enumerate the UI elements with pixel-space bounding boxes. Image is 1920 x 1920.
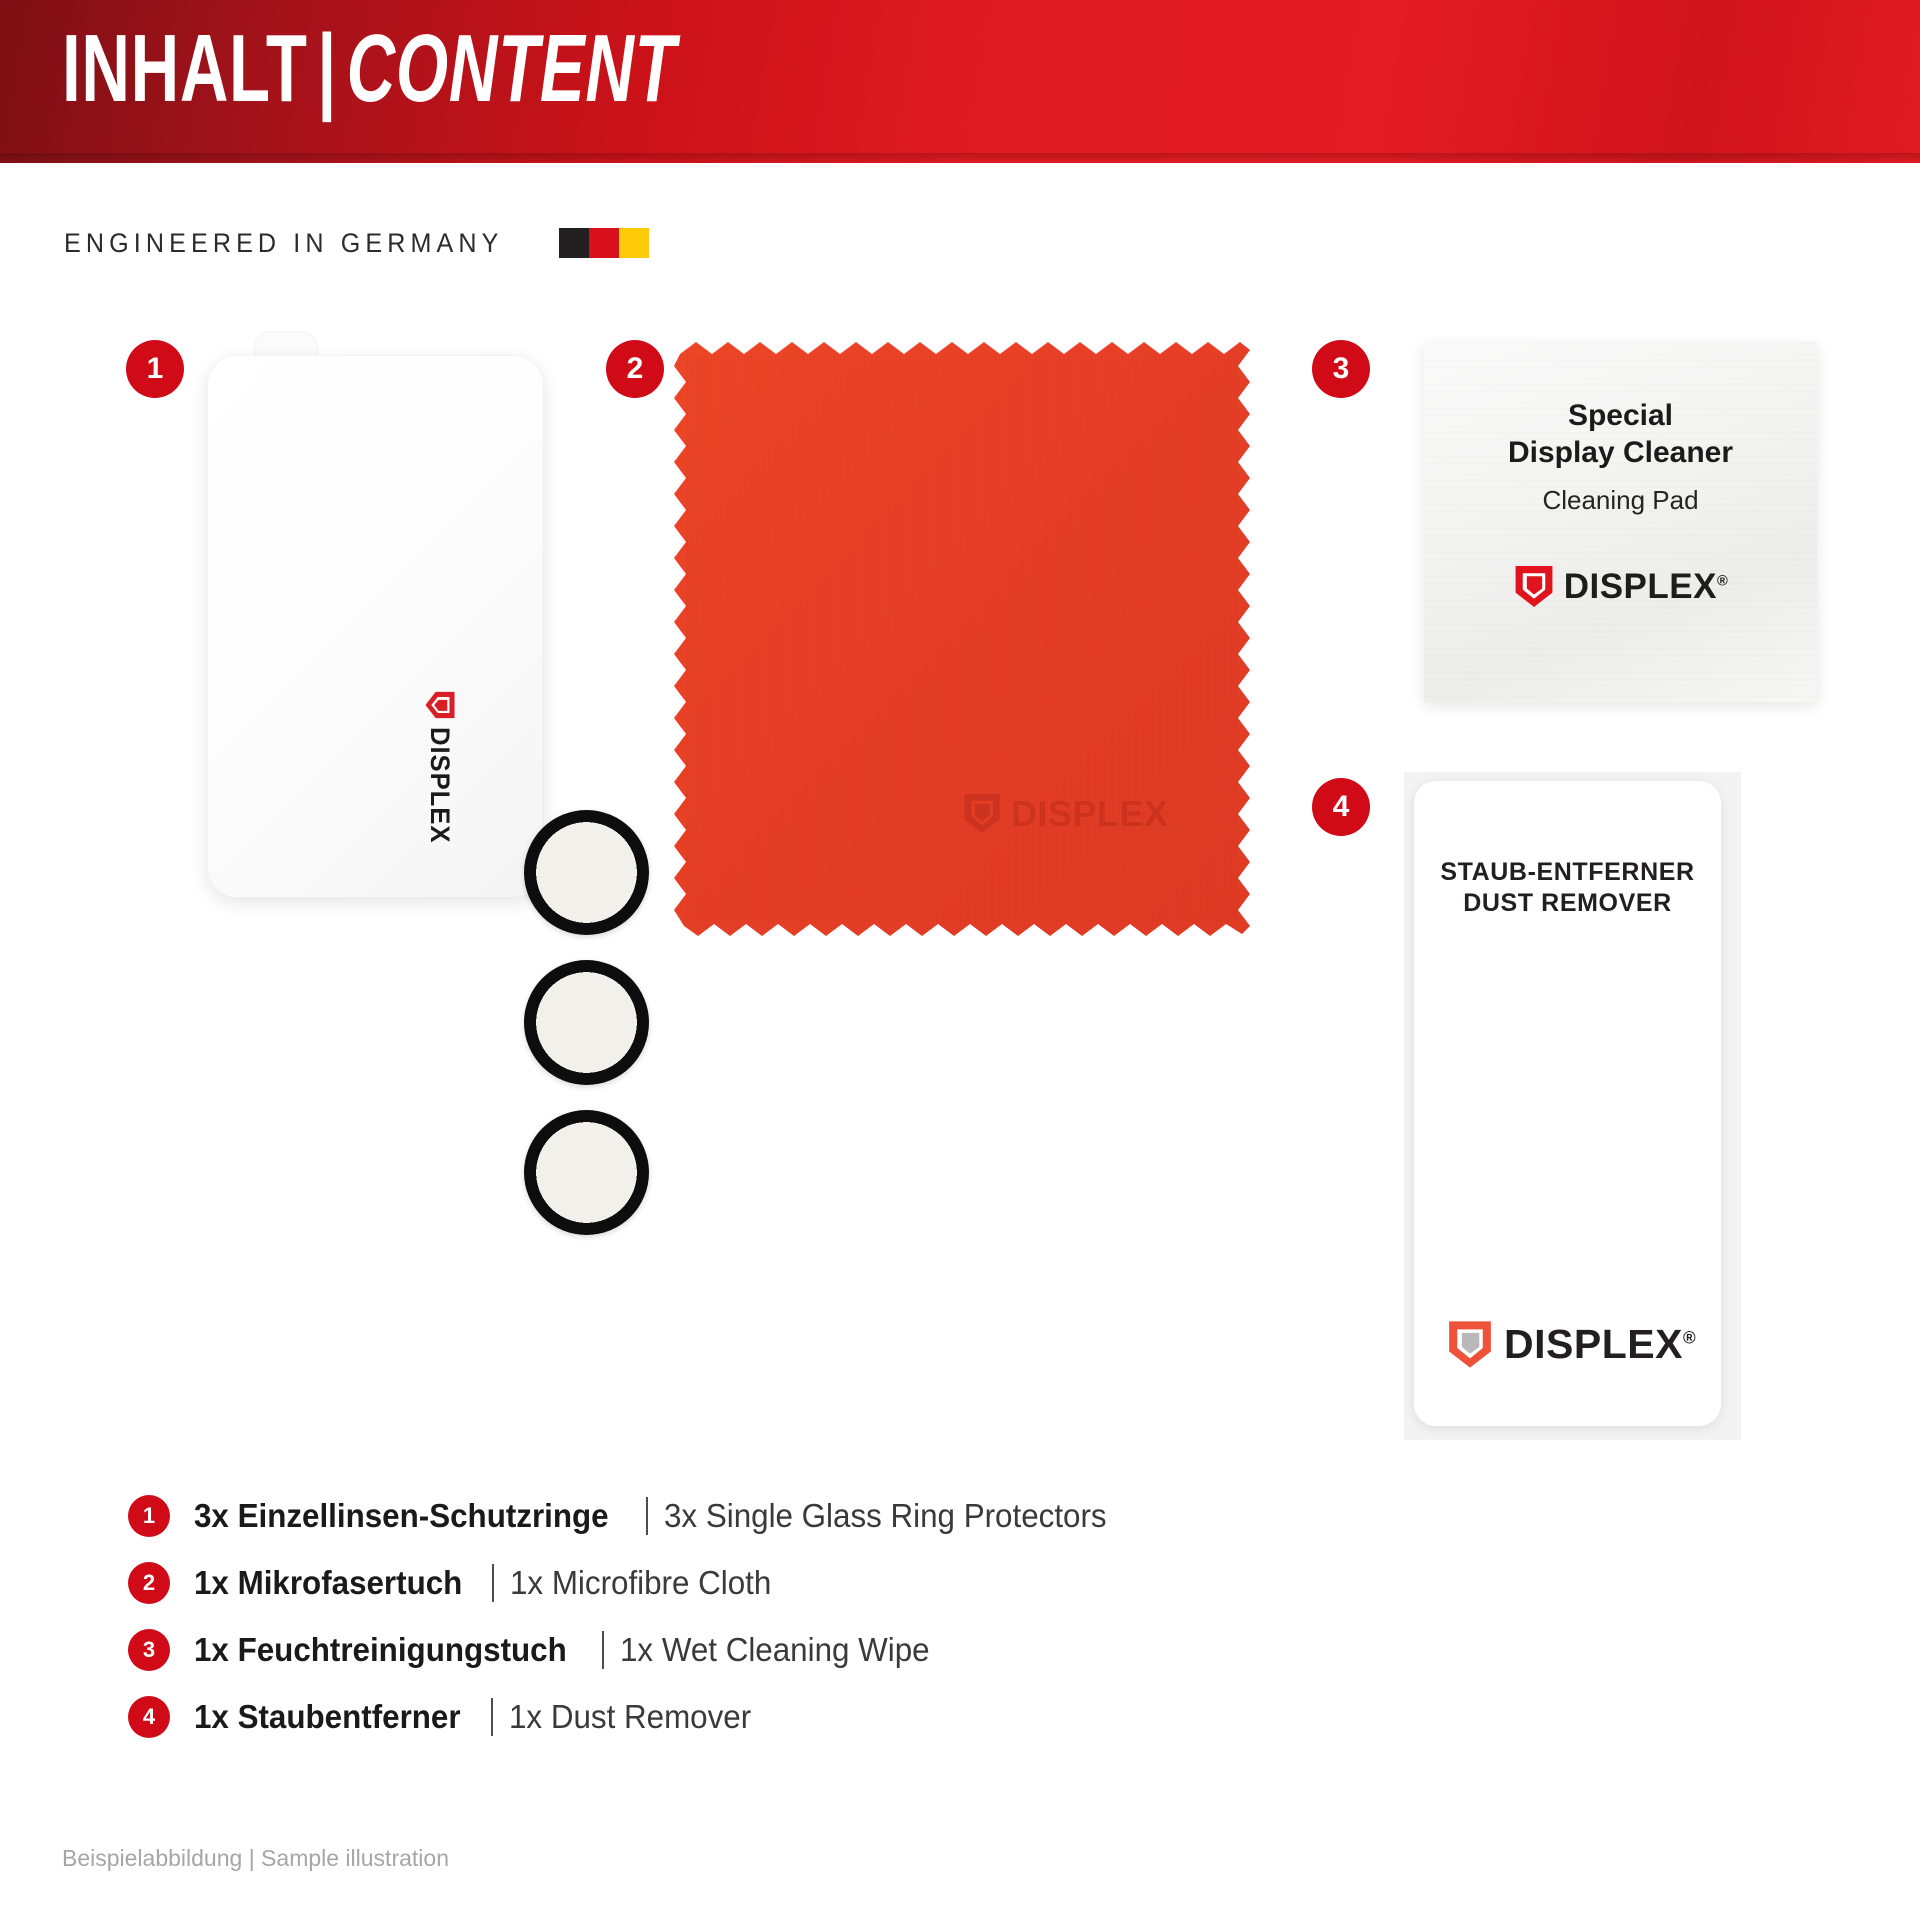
legend-separator xyxy=(602,1631,604,1669)
callout-badge-2: 2 xyxy=(606,340,664,398)
legend-label-de: 1x Mikrofasertuch xyxy=(194,1564,462,1602)
list-item: 4 1x Staubentferner 1x Dust Remover xyxy=(128,1683,1130,1750)
lens-ring-icon xyxy=(524,960,649,1085)
callout-badge-4: 4 xyxy=(1312,778,1370,836)
legend-label-de: 1x Feuchtreinigungstuch xyxy=(194,1631,567,1669)
displex-wordmark-text: DISPLEX xyxy=(1564,567,1717,606)
microfibre-cloth: DISPLEX xyxy=(672,340,1252,940)
dust-remover-package: STAUB-ENTFERNER DUST REMOVER DISPLEX® xyxy=(1404,772,1741,1440)
list-item: 1 3x Einzellinsen-Schutzringe 3x Single … xyxy=(128,1482,1130,1549)
engineered-label: ENGINEERED IN GERMANY xyxy=(64,228,503,259)
displex-logo-cloth: DISPLEX xyxy=(962,792,1169,835)
legend-separator xyxy=(646,1497,648,1535)
callout-badge-1: 1 xyxy=(126,340,184,398)
sachet-title-line2: Display Cleaner xyxy=(1508,434,1733,471)
sachet-texture xyxy=(1424,342,1817,702)
list-item: 3 1x Feuchtreinigungstuch 1x Wet Cleanin… xyxy=(128,1616,1130,1683)
registered-mark-icon: ® xyxy=(1717,573,1728,589)
displex-logo-card: DISPLEX xyxy=(424,690,456,850)
legend-badge-4: 4 xyxy=(128,1696,170,1738)
flag-stripe-gold xyxy=(619,228,649,258)
flag-stripe-black xyxy=(559,228,589,258)
registered-mark-icon: ® xyxy=(1683,1327,1696,1347)
legend-label-en: 1x Microfibre Cloth xyxy=(510,1564,771,1602)
displex-shield-icon xyxy=(962,792,1002,835)
displex-logo-sachet: DISPLEX® xyxy=(1513,564,1729,609)
dust-remover-face: STAUB-ENTFERNER DUST REMOVER DISPLEX® xyxy=(1414,781,1721,1426)
legend-label-de: 1x Staubentferner xyxy=(194,1698,461,1736)
legend-separator xyxy=(491,1698,493,1736)
displex-wordmark: DISPLEX® xyxy=(1504,1321,1696,1368)
displex-shield-icon xyxy=(1446,1319,1494,1370)
page-title-separator: | xyxy=(308,15,347,122)
header-banner: INHALT|CONTENT xyxy=(0,0,1920,163)
callout-badge-3: 3 xyxy=(1312,340,1370,398)
contents-legend: 1 3x Einzellinsen-Schutzringe 3x Single … xyxy=(128,1482,1130,1750)
page-title: INHALT|CONTENT xyxy=(62,16,676,122)
displex-shield-icon xyxy=(424,690,456,720)
sachet-subtitle: Cleaning Pad xyxy=(1542,485,1698,516)
displex-wordmark-text: DISPLEX xyxy=(1504,1321,1683,1367)
dust-remover-title-en: DUST REMOVER xyxy=(1414,888,1721,919)
legend-label-en: 1x Wet Cleaning Wipe xyxy=(620,1631,930,1669)
engineered-in-germany: ENGINEERED IN GERMANY xyxy=(64,226,649,260)
legend-badge-2: 2 xyxy=(128,1562,170,1604)
lens-ring-icon xyxy=(524,1110,649,1235)
flag-stripe-red xyxy=(589,228,619,258)
legend-label-en: 1x Dust Remover xyxy=(509,1698,751,1736)
legend-label-de: 3x Einzellinsen-Schutzringe xyxy=(194,1497,609,1535)
sachet-title-line1: Special xyxy=(1508,397,1733,434)
dust-remover-title: STAUB-ENTFERNER DUST REMOVER xyxy=(1414,857,1721,919)
lens-ring-icon xyxy=(524,810,649,935)
page-title-de: INHALT xyxy=(62,15,308,122)
legend-label-en: 3x Single Glass Ring Protectors xyxy=(664,1497,1107,1535)
legend-badge-3: 3 xyxy=(128,1629,170,1671)
cleaning-wipe-sachet: Special Display Cleaner Cleaning Pad DIS… xyxy=(1424,342,1817,702)
displex-shield-icon xyxy=(1513,564,1555,609)
cloth-shape xyxy=(672,340,1252,940)
displex-logo-dust: DISPLEX® xyxy=(1446,1319,1696,1370)
german-flag-icon xyxy=(559,228,649,258)
lens-ring-protector-card xyxy=(207,355,544,898)
displex-wordmark: DISPLEX xyxy=(425,727,456,843)
legend-badge-1: 1 xyxy=(128,1495,170,1537)
sachet-title: Special Display Cleaner xyxy=(1508,397,1733,471)
dust-remover-title-de: STAUB-ENTFERNER xyxy=(1414,857,1721,888)
list-item: 2 1x Mikrofasertuch 1x Microfibre Cloth xyxy=(128,1549,1130,1616)
displex-wordmark: DISPLEX® xyxy=(1564,567,1729,607)
footer-note: Beispielabbildung | Sample illustration xyxy=(62,1845,449,1872)
legend-separator xyxy=(492,1564,494,1602)
page-title-en: CONTENT xyxy=(347,15,677,122)
displex-wordmark: DISPLEX xyxy=(1011,793,1169,835)
